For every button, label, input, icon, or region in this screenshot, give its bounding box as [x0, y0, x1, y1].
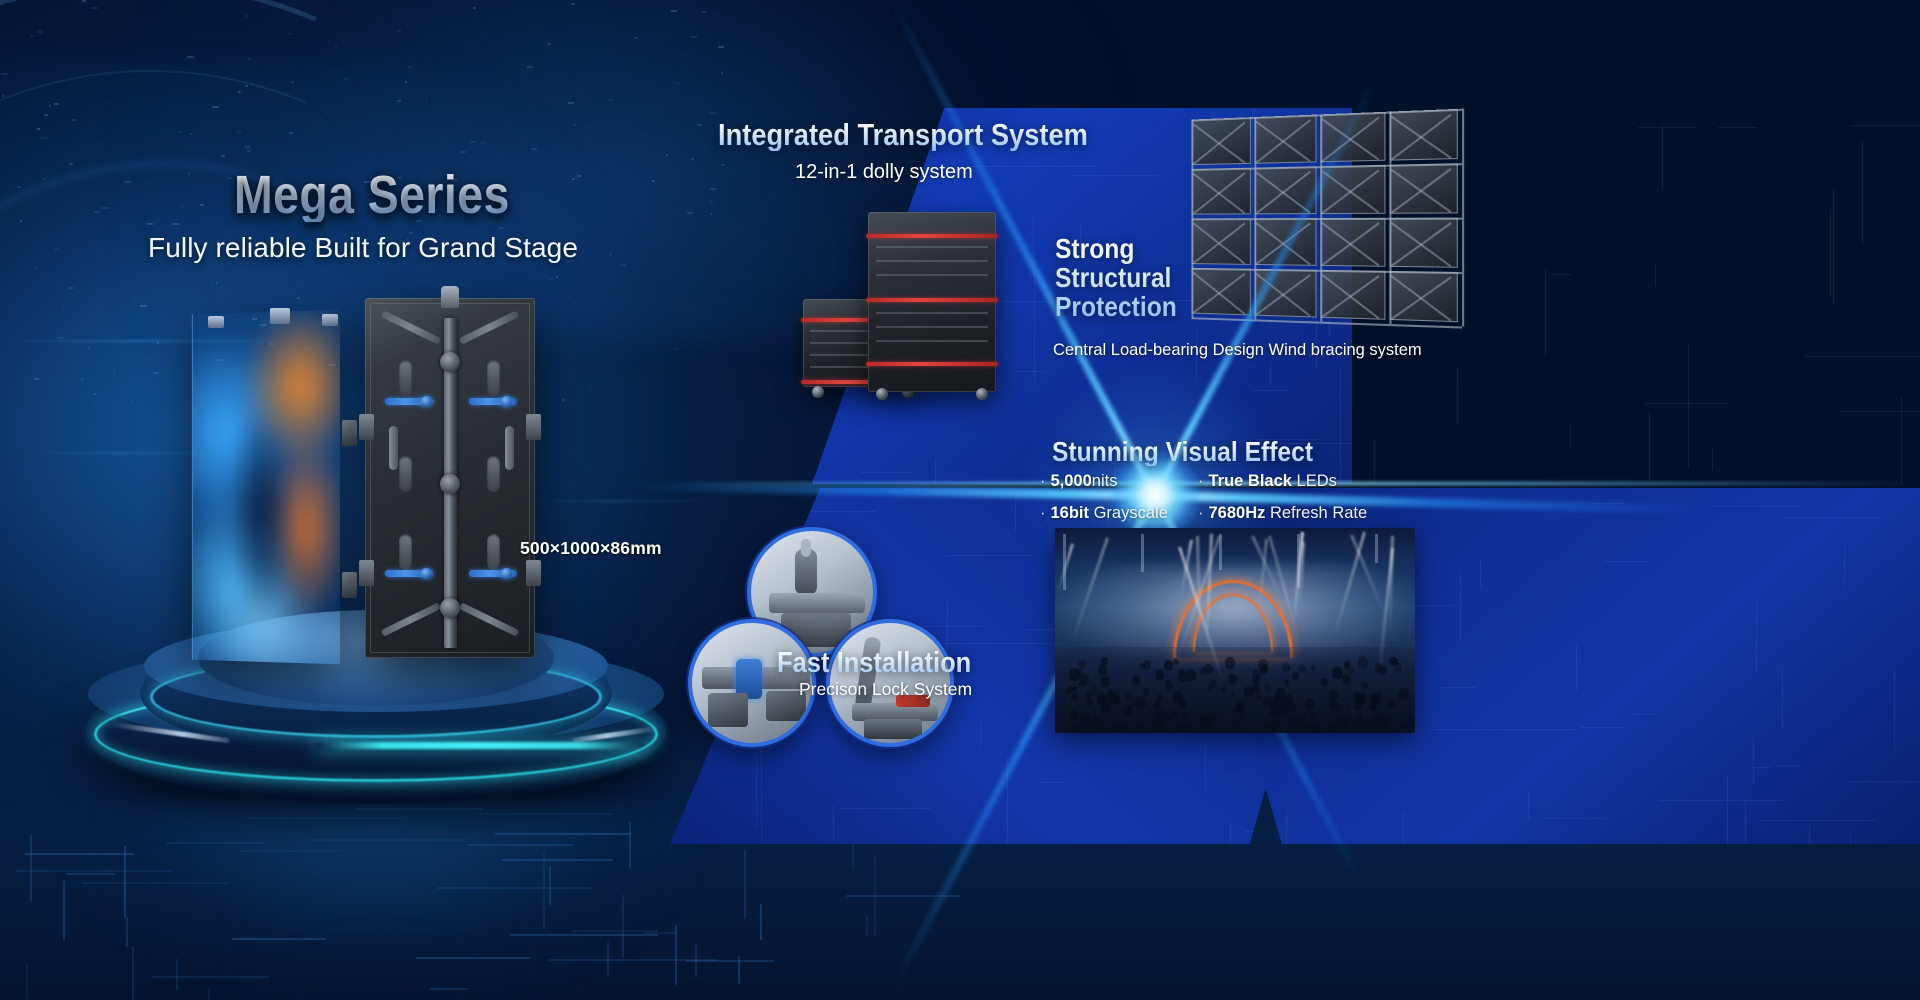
concert-crowd-head — [1225, 657, 1235, 669]
blueprint-line — [1016, 371, 1046, 372]
blueprint-line — [691, 490, 692, 525]
concert-crowd-head — [1158, 707, 1166, 716]
concert-crowd-head — [1136, 697, 1146, 709]
spec-value: True Black — [1209, 472, 1292, 490]
background-particle — [620, 264, 626, 266]
concert-crowd-head — [1175, 722, 1184, 732]
spec-value: 7680Hz — [1209, 504, 1266, 522]
concert-crowd-head — [1251, 684, 1260, 694]
concert-crowd-head — [1349, 668, 1354, 673]
blueprint-line — [1096, 93, 1180, 94]
background-particle — [671, 10, 677, 12]
concert-crowd-head — [1071, 727, 1079, 733]
background-particle — [577, 175, 581, 177]
cabinet-side-lug-left-lower — [359, 560, 374, 586]
blueprint-line — [967, 166, 1099, 167]
concert-crowd-head — [1132, 676, 1140, 685]
background-particle — [0, 375, 1, 377]
podium-accent-light-bar — [316, 742, 646, 749]
background-particle — [33, 103, 34, 105]
background-particle — [548, 278, 553, 280]
visual-effect-title: Stunning Visual Effect — [1052, 437, 1313, 466]
concert-crowd-head — [1276, 688, 1286, 699]
background-particle — [634, 37, 638, 39]
concert-crowd-head — [1291, 714, 1302, 727]
concert-crowd-head — [1173, 659, 1179, 666]
banner-canvas: 500×1000×86mm Mega Series Fully reliable… — [0, 0, 1920, 1000]
dolly-caster-l1 — [812, 386, 824, 398]
background-particle — [531, 148, 537, 150]
background-particle — [41, 137, 48, 139]
concert-crowd-head — [1086, 699, 1092, 706]
concert-crowd-head — [1401, 721, 1408, 729]
truss-vertical-bar — [1462, 109, 1464, 327]
concert-crowd-head — [1107, 689, 1114, 697]
background-particle — [572, 178, 575, 180]
spec-item-2: ·16bit Grayscale — [1040, 504, 1190, 523]
background-particle — [344, 78, 349, 80]
blueprint-line — [1844, 545, 1845, 589]
spec-bullet-icon: · — [1198, 504, 1204, 522]
concert-crowd-head — [1186, 669, 1196, 680]
dolly-caster-r1 — [876, 388, 888, 400]
background-particle — [63, 308, 64, 310]
background-particle — [397, 30, 401, 32]
concert-crowd-head — [1344, 661, 1350, 668]
cabinet-connector-dot-bl — [421, 568, 432, 579]
dolly-case-rail-right-2 — [866, 298, 998, 302]
install-detail-circle-left — [688, 619, 816, 747]
blueprint-line — [1403, 813, 1404, 844]
concert-crowd-head — [1125, 693, 1132, 701]
floor-circuit-trace — [26, 963, 28, 1000]
concert-truss-element — [1375, 534, 1378, 563]
page-subtitle: Fully reliable Built for Grand Stage — [148, 232, 578, 264]
spec-label: nits — [1092, 472, 1118, 490]
blueprint-line — [1841, 411, 1920, 412]
blueprint-line — [1894, 671, 1895, 750]
concert-crowd-head — [1179, 699, 1186, 708]
led-panel-front-side-edge — [338, 320, 352, 658]
blueprint-line — [853, 203, 854, 237]
concert-crowd-head — [1086, 692, 1091, 698]
background-particle — [282, 153, 283, 155]
blueprint-line — [1759, 820, 1877, 821]
cabinet-side-lug-right-upper — [526, 414, 541, 440]
dolly-case-slat-r3 — [876, 274, 988, 276]
background-particle — [37, 128, 40, 130]
blueprint-line — [1658, 800, 1783, 801]
cabinet-vent-slot-2 — [487, 360, 500, 396]
background-particle — [114, 369, 115, 371]
blueprint-line — [1570, 422, 1571, 448]
blueprint-line — [1434, 729, 1578, 730]
background-particle — [81, 378, 84, 380]
background-particle — [69, 163, 73, 165]
concert-crowd-head — [1269, 699, 1276, 707]
concert-crowd-head — [1282, 663, 1290, 672]
concert-crowd-head — [1165, 681, 1173, 690]
background-particle — [147, 223, 153, 225]
blueprint-line — [1785, 517, 1883, 518]
spec-item-1: ·True Black LEDs — [1198, 472, 1400, 491]
blueprint-line — [1580, 727, 1623, 728]
background-particle — [188, 173, 190, 175]
concert-crowd-head — [1182, 713, 1187, 718]
background-particle — [426, 97, 427, 99]
concert-crowd-head — [1355, 713, 1363, 722]
concert-crowd-head — [1387, 700, 1396, 711]
blueprint-line — [777, 511, 876, 512]
blueprint-line — [839, 808, 931, 809]
cabinet-connector-dot-tl — [421, 396, 432, 407]
blueprint-line — [1851, 125, 1920, 126]
floor-circuit-trace — [874, 855, 876, 937]
background-particle — [2, 95, 4, 97]
background-particle — [681, 69, 682, 71]
cabinet-top-hanging-hook — [441, 286, 459, 308]
blueprint-line — [1833, 188, 1834, 305]
blueprint-line — [1480, 560, 1481, 587]
background-particle — [136, 218, 138, 220]
concert-crowd-head — [1085, 715, 1093, 724]
background-particle — [148, 143, 150, 145]
blueprint-line — [1015, 500, 1016, 530]
background-particle — [248, 58, 251, 60]
background-particle — [216, 282, 217, 284]
concert-truss-element — [1219, 534, 1222, 570]
floor-circuit-trace — [738, 956, 740, 985]
concert-crowd-head — [1101, 703, 1111, 714]
background-particle — [326, 112, 328, 114]
blueprint-line — [1073, 175, 1159, 176]
concert-crowd-head — [1264, 684, 1270, 691]
concert-crowd-head — [1378, 665, 1387, 676]
blueprint-line — [813, 461, 814, 484]
background-particle — [718, 46, 724, 48]
concert-crowd-head — [1398, 688, 1409, 700]
background-particle — [227, 177, 232, 179]
blueprint-line — [681, 538, 682, 606]
background-particle — [499, 227, 504, 229]
concert-crowd-head — [1158, 724, 1168, 733]
concert-crowd-head — [1123, 705, 1133, 716]
background-particle — [94, 393, 96, 395]
front-panel-side-lug-upper — [342, 420, 357, 446]
blueprint-line — [1782, 668, 1783, 729]
dolly-case-slat-r4 — [876, 312, 988, 314]
blueprint-line — [1034, 271, 1035, 382]
background-particle — [527, 66, 533, 68]
concert-truss-element — [1297, 534, 1300, 588]
blueprint-line — [1850, 836, 1851, 844]
background-particle — [691, 36, 697, 38]
front-panel-hook-left — [208, 316, 224, 328]
spec-label: Refresh Rate — [1265, 504, 1367, 522]
cabinet-vent-slot-3 — [399, 456, 412, 492]
background-particle — [181, 206, 183, 208]
concert-crowd-head — [1238, 712, 1246, 721]
background-particle — [148, 182, 150, 184]
concert-crowd-head — [1378, 725, 1384, 731]
background-particle — [31, 35, 33, 37]
concert-crowd-head — [1354, 698, 1363, 708]
background-particle — [69, 287, 73, 289]
concert-crowd-head — [1309, 722, 1315, 729]
background-particle — [88, 347, 90, 349]
floor-circuit-trace — [866, 916, 868, 936]
concert-crowd-head — [1299, 665, 1306, 673]
concert-crowd-head — [1093, 714, 1101, 723]
background-particle — [36, 267, 37, 269]
background-particle — [666, 154, 668, 156]
background-particle — [38, 31, 42, 33]
concert-crowd-head — [1358, 656, 1369, 668]
page-title: Mega Series — [234, 168, 510, 222]
blueprint-line — [1688, 345, 1689, 467]
cabinet-handle-left — [389, 426, 398, 470]
concert-crowd-head — [1277, 702, 1288, 714]
dolly-case-slat-r6 — [876, 340, 988, 342]
spec-label: Grayscale — [1089, 504, 1168, 522]
blueprint-line — [1270, 362, 1271, 385]
background-particle — [102, 207, 109, 209]
blueprint-line — [835, 89, 891, 90]
concert-crowd-head — [1209, 712, 1216, 720]
visual-effect-spec-list: ·5,000nits·True Black LEDs·16bit Graysca… — [1040, 472, 1400, 523]
product-dimensions-label: 500×1000×86mm — [520, 538, 662, 559]
concert-crowd-head — [1072, 686, 1077, 692]
blueprint-line — [1655, 265, 1656, 286]
concert-crowd-head — [1143, 688, 1150, 696]
blueprint-line — [1441, 687, 1475, 688]
blueprint-line — [833, 805, 834, 840]
concert-crowd-head — [1269, 711, 1274, 717]
blueprint-line — [861, 472, 912, 473]
cabinet-vent-slot-4 — [487, 456, 500, 492]
spec-item-3: ·7680Hz Refresh Rate — [1198, 504, 1400, 523]
cabinet-connector-dot-br — [501, 568, 512, 579]
background-particle — [289, 132, 293, 134]
led-panel-front-display — [192, 310, 340, 665]
spec-item-0: ·5,000nits — [1040, 472, 1190, 491]
background-particle — [245, 146, 250, 148]
front-panel-side-lug-lower — [342, 572, 357, 598]
concert-stage-photo — [1055, 528, 1415, 733]
blueprint-line — [761, 747, 762, 841]
background-particle — [547, 43, 551, 45]
background-particle — [212, 106, 219, 108]
concert-crowd-head — [1389, 657, 1397, 667]
background-particle — [82, 0, 86, 2]
background-particle — [190, 133, 192, 135]
concert-crowd-head — [1292, 672, 1299, 680]
background-particle — [422, 280, 426, 282]
concert-truss-element — [1141, 534, 1144, 572]
background-particle — [43, 178, 45, 180]
blueprint-line — [756, 752, 757, 828]
background-particle — [57, 337, 64, 339]
cabinet-vent-slot-5 — [399, 534, 412, 570]
background-particle — [335, 46, 337, 48]
background-particle — [17, 186, 21, 188]
background-particle — [34, 378, 39, 380]
dolly-case-rail-right-3 — [866, 362, 998, 366]
blueprint-line — [1645, 403, 1729, 404]
structural-title-line-1: Strong — [1055, 234, 1177, 263]
blueprint-line — [1457, 367, 1458, 427]
spec-bullet-icon: · — [1040, 472, 1046, 490]
concert-crowd-head — [1270, 720, 1280, 732]
background-particle — [288, 33, 291, 35]
blueprint-line — [815, 396, 816, 431]
background-particle — [132, 401, 133, 403]
concert-crowd-head — [1335, 718, 1345, 730]
blueprint-line — [1745, 798, 1746, 844]
blueprint-line — [1727, 776, 1728, 844]
concert-crowd-head — [1369, 703, 1376, 711]
blueprint-line — [1638, 127, 1695, 128]
background-particle — [473, 7, 476, 9]
floor-circuit-trace — [760, 904, 762, 940]
display-abstract-artwork — [193, 310, 340, 665]
background-particle — [211, 284, 213, 286]
cabinet-lock-top — [440, 352, 460, 372]
dolly-caster-r2 — [976, 388, 988, 400]
blueprint-line — [1230, 822, 1231, 844]
concert-crowd-head — [1203, 725, 1209, 732]
concert-crowd-head — [1409, 718, 1415, 728]
background-particle — [1, 73, 8, 75]
concert-crowd-head — [1305, 698, 1315, 709]
led-panel-product-group — [190, 290, 610, 650]
background-particle — [94, 211, 100, 213]
cabinet-vent-slot-6 — [487, 534, 500, 570]
background-particle — [441, 158, 442, 160]
background-particle — [54, 248, 59, 250]
background-particle — [178, 375, 179, 377]
concert-crowd-head — [1098, 664, 1107, 675]
concert-crowd-head — [1209, 679, 1217, 688]
dolly-case-slat-r5 — [876, 326, 988, 328]
concert-truss-element — [1063, 534, 1066, 590]
background-particle — [140, 305, 147, 307]
blueprint-line — [1253, 390, 1292, 391]
background-particle — [251, 83, 254, 85]
background-particle — [200, 204, 204, 206]
background-particle — [568, 102, 574, 104]
concert-crowd-head — [1302, 714, 1306, 719]
structural-protection-title: Strong Structural Protection — [1055, 234, 1177, 321]
blueprint-line — [1632, 714, 1656, 715]
blueprint-line — [939, 643, 1056, 644]
spec-value: 5,000 — [1051, 472, 1092, 490]
background-particle — [247, 150, 251, 152]
concert-crowd-head — [1157, 694, 1163, 701]
concert-crowd-head — [1329, 700, 1339, 711]
background-particle — [574, 124, 576, 126]
background-particle — [556, 276, 558, 278]
background-particle — [153, 372, 159, 374]
concert-crowd-head — [1232, 719, 1239, 727]
concert-crowd-head — [1200, 667, 1207, 675]
structural-title-line-2: Structural — [1055, 263, 1177, 292]
concert-crowd-head — [1071, 694, 1077, 701]
background-particle — [461, 151, 466, 153]
background-particle — [157, 342, 159, 344]
blueprint-line — [1847, 781, 1920, 782]
concert-crowd-head — [1070, 709, 1078, 718]
concert-crowd-head — [1342, 674, 1351, 684]
concert-crowd-head — [1321, 678, 1328, 686]
blueprint-line — [1649, 411, 1650, 482]
spec-bullet-icon: · — [1198, 472, 1204, 490]
concert-crowd-head — [1362, 682, 1368, 689]
background-particle — [49, 105, 51, 107]
cabinet-lock-middle — [440, 474, 460, 494]
blueprint-line — [1528, 790, 1529, 820]
concert-crowd-head — [1253, 676, 1260, 684]
concert-crowd-head — [1155, 669, 1164, 679]
concert-crowd-head — [1228, 674, 1237, 684]
background-particle — [610, 254, 611, 256]
concert-crowd-head — [1257, 694, 1262, 700]
transport-system-title: Integrated Transport System — [718, 119, 1088, 151]
concert-crowd-head — [1361, 726, 1369, 733]
fast-installation-subtitle: Precison Lock System — [799, 679, 972, 700]
podium-floor-reflection — [60, 800, 700, 1000]
concert-crowd-head — [1078, 660, 1085, 668]
blueprint-line — [1862, 140, 1863, 245]
blueprint-line — [1286, 807, 1287, 844]
blueprint-line — [1712, 447, 1713, 471]
concert-crowd-head — [1069, 668, 1080, 680]
concert-crowd-head — [1172, 709, 1179, 717]
background-particle — [539, 168, 540, 170]
front-panel-hook-right — [322, 314, 338, 326]
background-particle — [237, 131, 242, 133]
blueprint-line — [1901, 397, 1902, 484]
background-particle — [480, 142, 486, 144]
blueprint-line — [1205, 747, 1206, 793]
concert-crowd-head — [1080, 674, 1089, 685]
background-particle — [291, 81, 294, 83]
blueprint-line — [1541, 818, 1606, 819]
spec-label: LEDs — [1292, 472, 1337, 490]
cabinet-side-lug-right-lower — [526, 560, 541, 586]
background-particle — [172, 223, 179, 225]
background-particle — [91, 7, 98, 9]
background-particle — [187, 56, 194, 58]
blueprint-line — [1776, 765, 1800, 766]
background-particle — [245, 85, 248, 87]
blueprint-line — [1545, 268, 1546, 358]
concert-crowd-head — [1310, 713, 1315, 718]
cabinet-lock-bottom — [440, 598, 460, 618]
background-particle — [397, 100, 401, 102]
blueprint-line — [1809, 824, 1810, 844]
background-particle — [221, 155, 225, 157]
background-particle — [266, 132, 267, 134]
background-particle — [571, 3, 575, 5]
concert-crowd-head — [1143, 660, 1152, 670]
spec-value: 16bit — [1051, 504, 1090, 522]
blueprint-line — [1662, 123, 1663, 191]
blueprint-line — [1805, 356, 1920, 357]
background-particle — [154, 82, 155, 84]
transport-system-subtitle: 12-in-1 dolly system — [795, 161, 973, 184]
structural-title-line-3: Protection — [1055, 292, 1177, 321]
